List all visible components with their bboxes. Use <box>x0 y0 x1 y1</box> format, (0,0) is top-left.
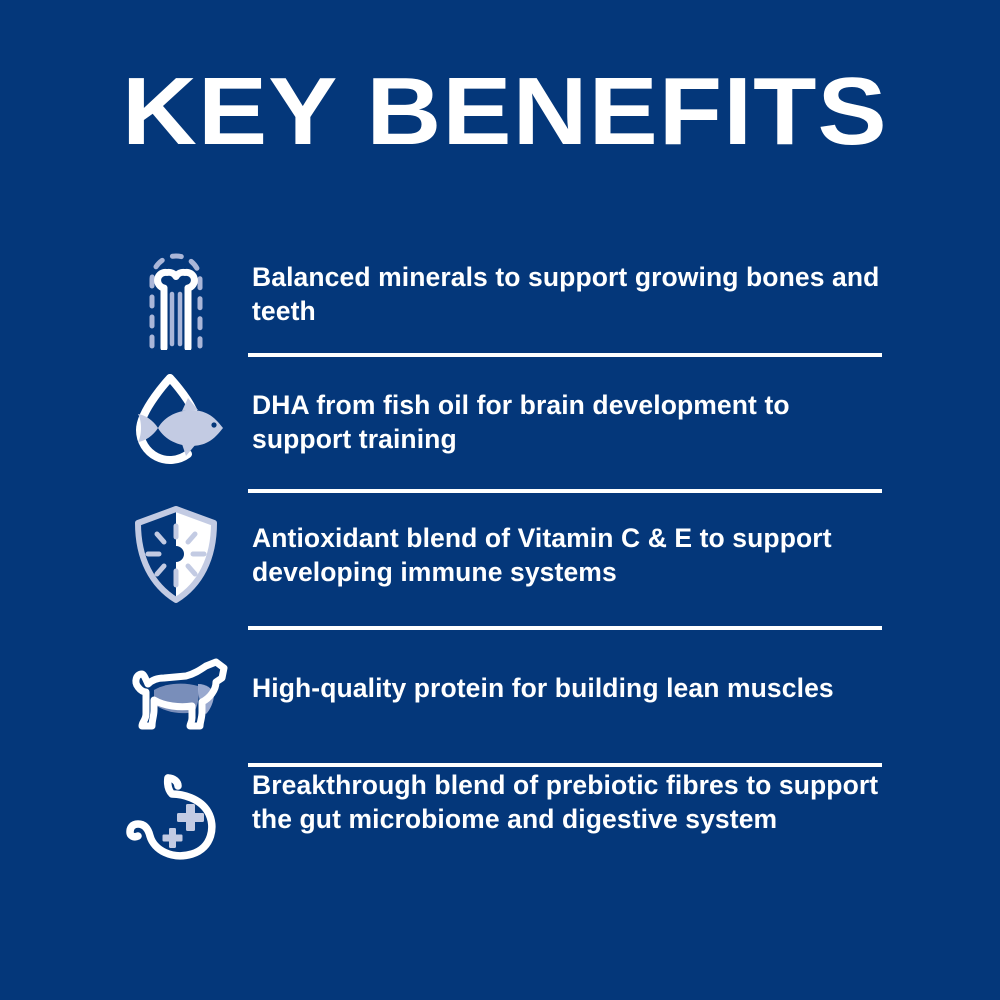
benefits-list: Balanced minerals to support growing bon… <box>0 232 1000 894</box>
fish-oil-droplet-icon <box>104 355 248 488</box>
bone-icon <box>104 232 248 355</box>
stomach-icon <box>104 754 248 894</box>
benefit-item-protein: High-quality protein for building lean m… <box>0 621 1000 754</box>
page-title: KEY BENEFITS <box>122 60 943 164</box>
benefit-item-fish-oil: DHA from fish oil for brain development … <box>0 355 1000 488</box>
benefit-item-digestive: Breakthrough blend of prebiotic fibres t… <box>0 754 1000 894</box>
divider <box>248 763 882 767</box>
benefit-item-antioxidant: Antioxidant blend of Vitamin C & E to su… <box>0 488 1000 621</box>
divider <box>248 353 882 357</box>
shield-sunburst-icon <box>104 488 248 621</box>
divider <box>248 489 882 493</box>
dog-icon <box>104 621 248 754</box>
divider <box>248 626 882 630</box>
key-benefits-panel: KEY BENEFITS Balanced minerals to suppor… <box>0 0 1000 1000</box>
benefit-text: Antioxidant blend of Vitamin C & E to su… <box>252 521 888 589</box>
benefit-text: Breakthrough blend of prebiotic fibres t… <box>252 768 888 836</box>
benefit-item-bone: Balanced minerals to support growing bon… <box>0 232 1000 355</box>
benefit-text: DHA from fish oil for brain development … <box>252 388 888 456</box>
benefit-text: Balanced minerals to support growing bon… <box>252 260 888 328</box>
benefit-text: High-quality protein for building lean m… <box>252 671 834 705</box>
